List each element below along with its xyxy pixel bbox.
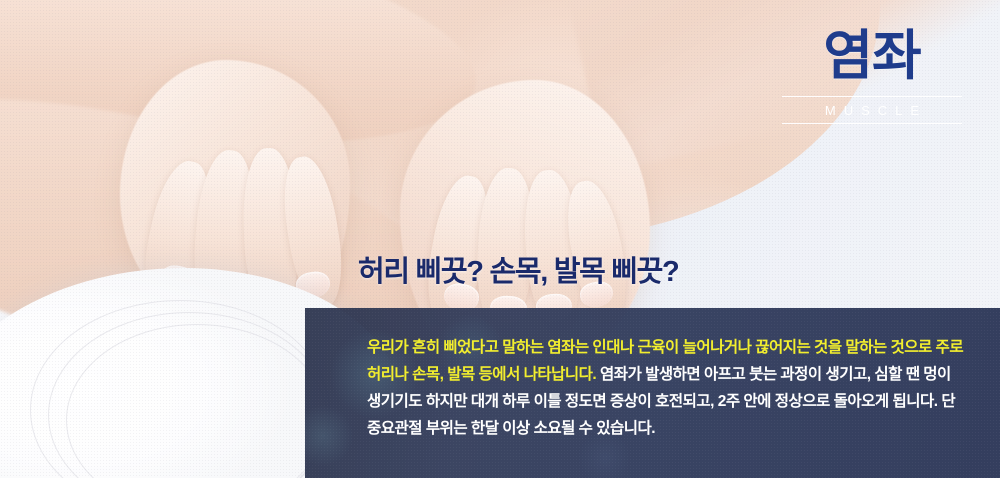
title-block: 염좌 MUSCLE: [782, 28, 962, 124]
description-text: 우리가 흔히 삐었다고 말하는 염좌는 인대나 근육이 늘어나거나 끊어지는 것…: [367, 334, 974, 442]
page-subtitle: MUSCLE: [782, 104, 962, 117]
description-line: 생기기도 하지만 대개 하루 이틀 정도면 증상이 호전되고, 2주 안에 정상…: [367, 388, 974, 415]
description-panel: 우리가 흔히 삐었다고 말하는 염좌는 인대나 근육이 늘어나거나 끊어지는 것…: [305, 308, 1000, 478]
description-body: 중요관절 부위는 한달 이상 소요될 수 있습니다.: [367, 420, 655, 437]
description-body: 염좌가 발생하면 아프고 붓는 과정이 생기고, 심할 땐 멍이: [600, 366, 951, 383]
page-title: 염좌: [782, 28, 962, 85]
description-highlight: 허리나 손목, 발목 등에서 나타납니다.: [367, 366, 600, 383]
headline: 허리 삐끗? 손목, 발목 삐끗?: [358, 248, 678, 290]
sprain-hero-banner: 염좌 MUSCLE 허리 삐끗? 손목, 발목 삐끗? 우리가 흔히 삐었다고 …: [0, 0, 1000, 478]
description-line: 우리가 흔히 삐었다고 말하는 염좌는 인대나 근육이 늘어나거나 끊어지는 것…: [367, 334, 974, 361]
description-line: 중요관절 부위는 한달 이상 소요될 수 있습니다.: [367, 415, 974, 442]
title-subtitle-rule: MUSCLE: [782, 96, 962, 124]
description-body: 생기기도 하지만 대개 하루 이틀 정도면 증상이 호전되고, 2주 안에 정상…: [367, 393, 955, 410]
description-line: 허리나 손목, 발목 등에서 나타납니다. 염좌가 발생하면 아프고 붓는 과정…: [367, 361, 974, 388]
description-highlight: 우리가 흔히 삐었다고 말하는 염좌는 인대나 근육이 늘어나거나 끊어지는 것…: [367, 339, 963, 356]
